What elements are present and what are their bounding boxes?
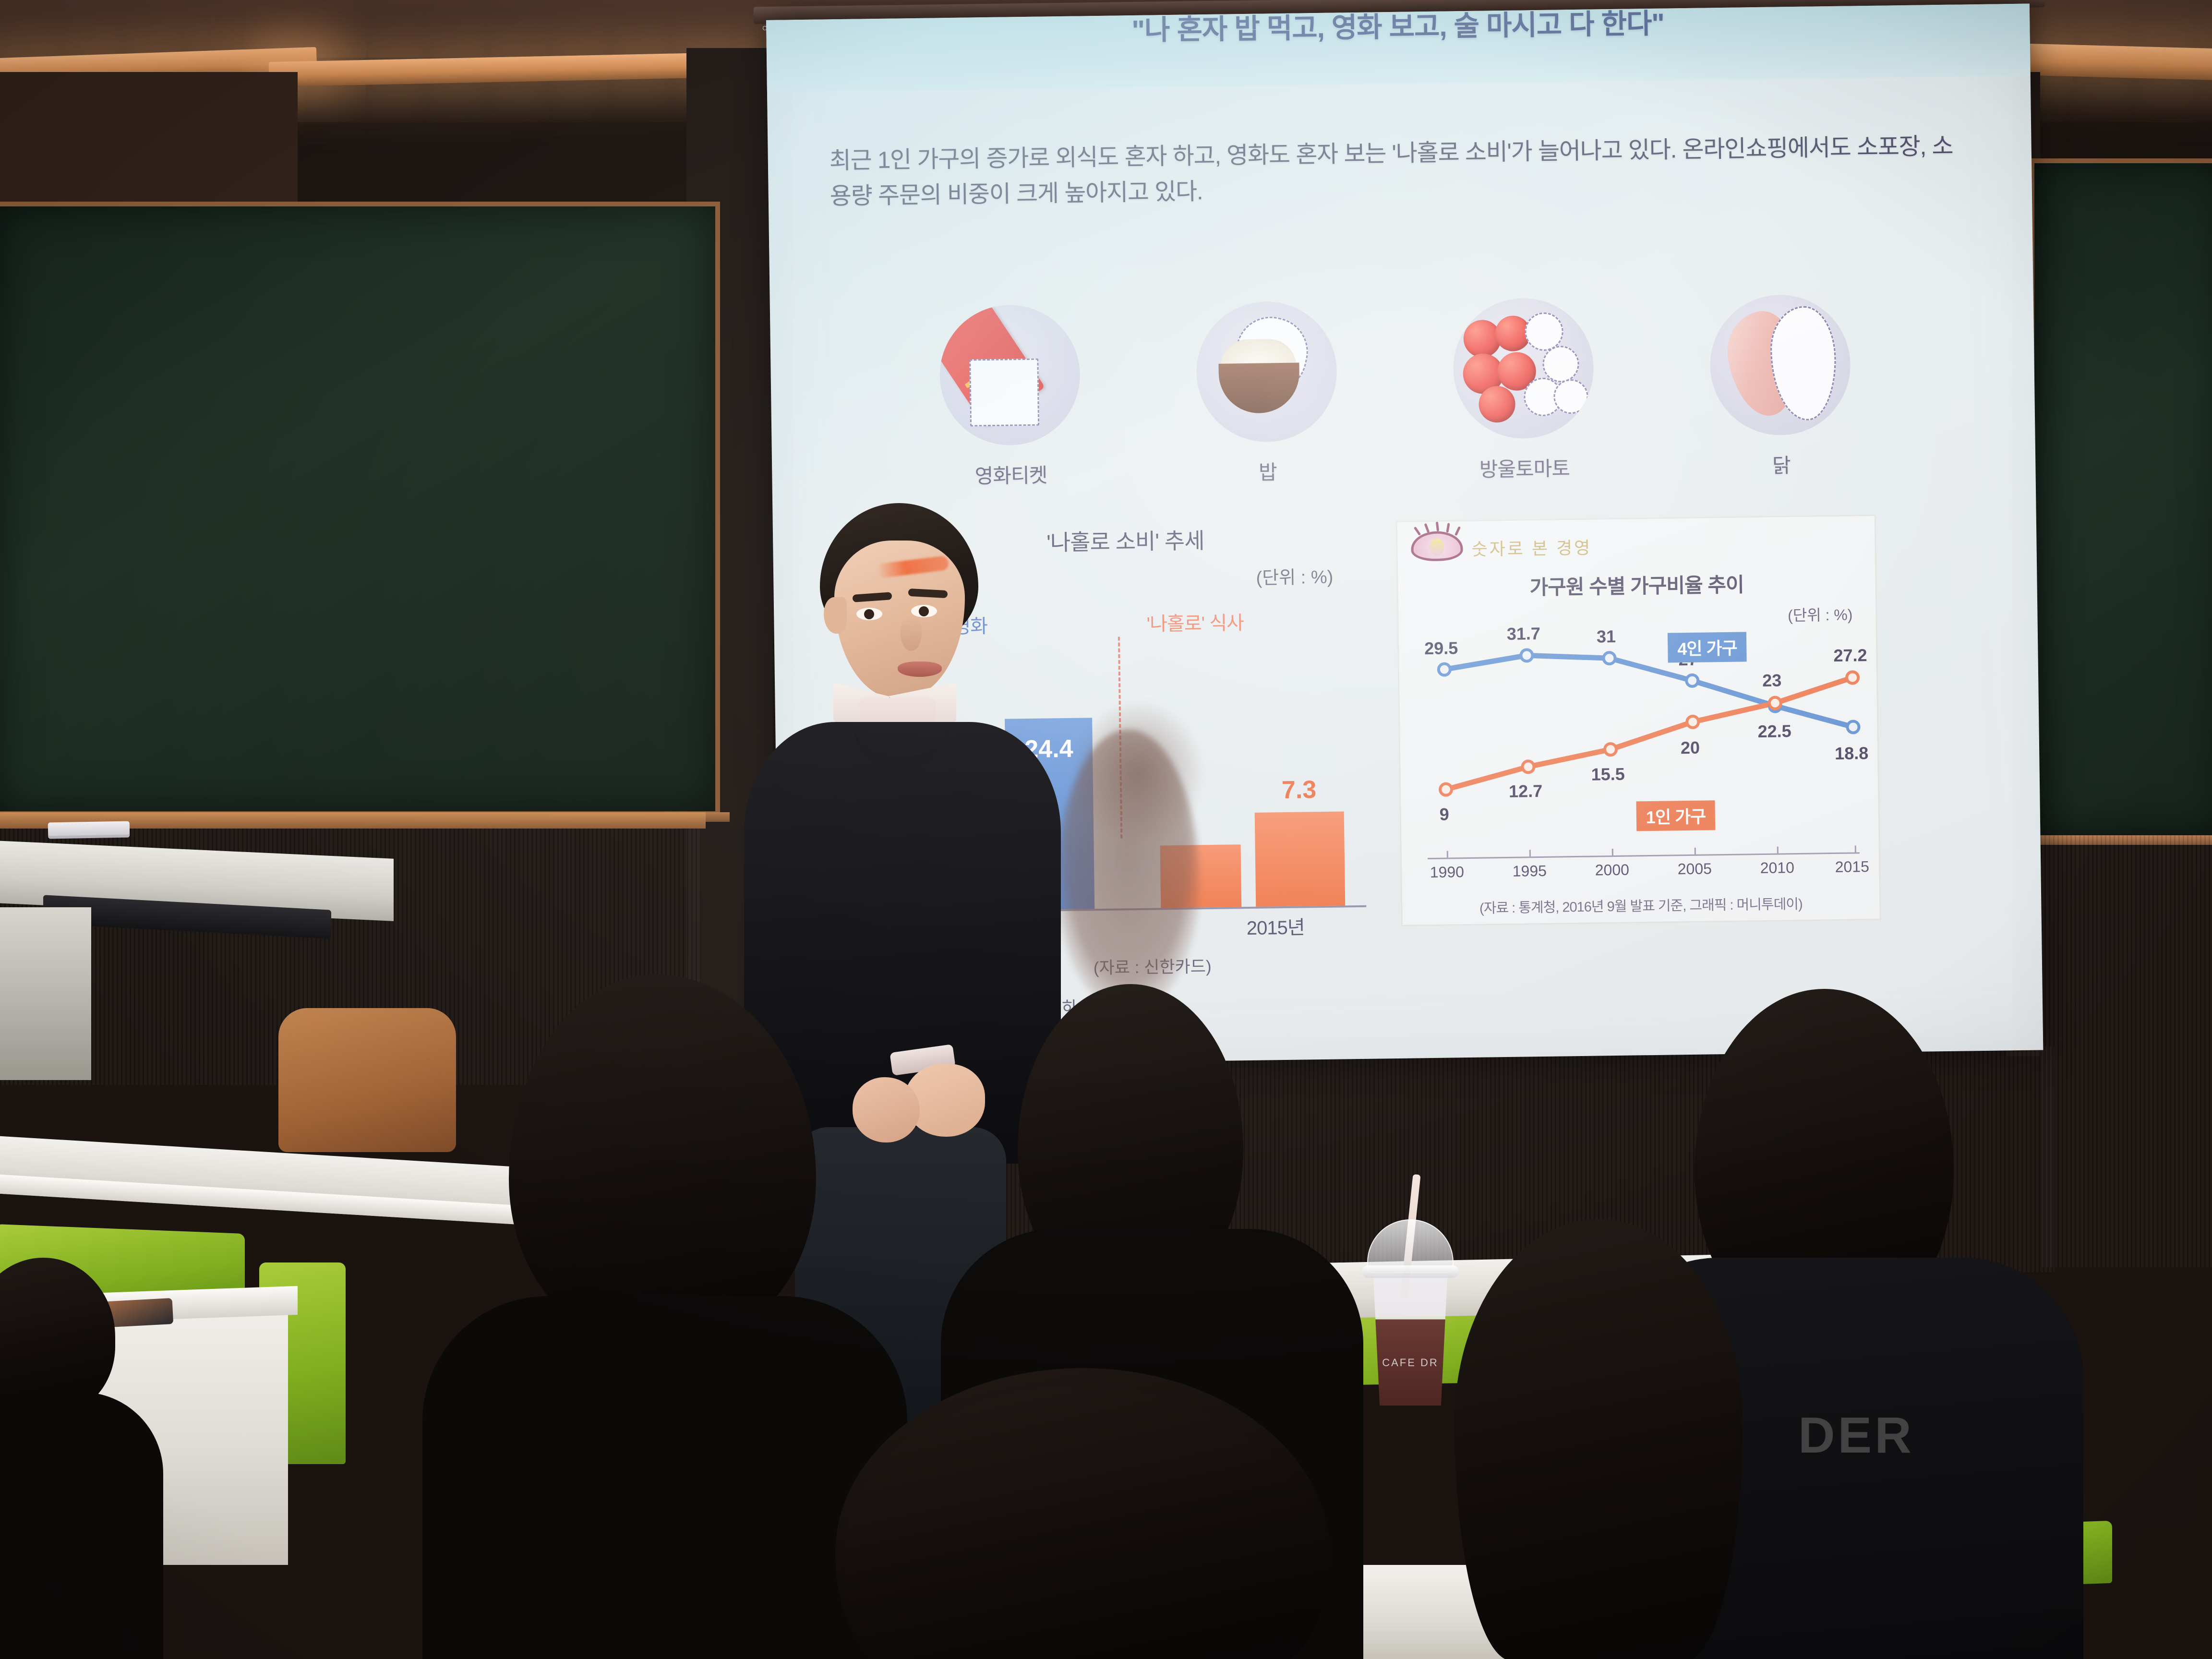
point-label-1person-1995: 12.7 — [1509, 781, 1543, 802]
series-line-1person — [1444, 677, 1854, 789]
eye-logo-icon — [1411, 531, 1463, 561]
wall-upper-left — [0, 72, 298, 216]
bar-chart-xlabel-2015: 2015년 — [1246, 912, 1305, 940]
presenter-hand-left — [853, 1077, 920, 1142]
presenter-nose — [901, 616, 922, 651]
rice-bowl-icon — [1195, 301, 1337, 443]
slide-body-text: 최근 1인 가구의 증가로 외식도 혼자 하고, 영화도 혼자 보는 '나홀로 … — [829, 128, 1972, 215]
line-chart-source: (자료 : 통계청, 2016년 9월 발표 기준, 그래픽 : 머니투데이) — [1402, 892, 1879, 918]
chalkboard-left — [0, 202, 720, 816]
line-chart-household-ratio: 숫자로 본 경영 가구원 수별 가구비율 추이 (단위 : %) — [1396, 515, 1881, 926]
xtick-1990: 1990 — [1430, 863, 1465, 881]
point-label-1person-2015: 27.2 — [1833, 645, 1867, 666]
presenter-eye-right — [911, 605, 937, 617]
bar-meal-2015: 7.3 — [1255, 811, 1346, 906]
xtick-2010: 2010 — [1760, 859, 1794, 877]
point-label-4person-2010: 22.5 — [1757, 721, 1791, 742]
slide-icon-row: 영화티켓 밥 — [880, 293, 1910, 491]
chalkboard-right — [2030, 158, 2212, 840]
point-label-1person-1990: 9 — [1439, 805, 1449, 825]
wood-wall-right — [2040, 835, 2212, 1267]
xtick-2005: 2005 — [1677, 860, 1712, 878]
point-label-4person-1995: 31.7 — [1507, 624, 1541, 644]
movie-ticket-icon — [938, 304, 1081, 446]
cup-lid-ring — [1362, 1265, 1458, 1278]
lecture-hall-photo: CANON "나 혼자 밥 먹고, 영화 보고, 술 마시고 다 한다" 최근 … — [0, 0, 2212, 1659]
cup-brand-text: CAFE DR — [1362, 1357, 1458, 1369]
icon-cell-movie-ticket: 영화티켓 — [922, 304, 1097, 490]
point-label-1person-2000: 15.5 — [1591, 764, 1625, 785]
line-chart-logo-text: 숫자로 본 경영 — [1471, 534, 1592, 561]
student-head-far-right — [1455, 1219, 1743, 1659]
icon-label-chicken: 닭 — [1695, 448, 1868, 480]
cherry-tomato-icon — [1452, 298, 1594, 440]
point-label-4person-1990: 29.5 — [1424, 638, 1458, 659]
icon-label-movie-ticket: 영화티켓 — [925, 458, 1098, 490]
chicken-icon — [1709, 294, 1851, 436]
bar-chart-unit: (단위 : %) — [1256, 562, 1333, 589]
icon-cell-chicken: 닭 — [1693, 294, 1868, 480]
xtick-2000: 2000 — [1595, 861, 1629, 879]
series-line-4person — [1444, 651, 1853, 732]
icon-cell-cherry-tomato: 방울토마토 — [1436, 297, 1611, 483]
legend-badge-4person: 4인 가구 — [1668, 632, 1747, 662]
point-label-4person-2000: 31 — [1597, 626, 1616, 647]
icon-cell-rice: 밥 — [1179, 301, 1354, 487]
icon-label-cherry-tomato: 방울토마토 — [1438, 452, 1611, 483]
line-chart-xaxis — [1428, 852, 1860, 859]
iced-coffee-cup: CAFE DR — [1362, 1219, 1458, 1411]
presenter-eye-left — [856, 608, 882, 620]
xtick-1995: 1995 — [1513, 862, 1547, 880]
xtick-2015: 2015 — [1835, 858, 1869, 876]
point-label-1person-2010: 23 — [1762, 670, 1782, 691]
point-label-4person-2015: 18.8 — [1835, 743, 1869, 764]
bar-value-meal-2015: 7.3 — [1254, 775, 1344, 805]
student-body-far-left — [0, 1392, 163, 1659]
icon-label-rice: 밥 — [1181, 455, 1354, 487]
bar-chart-legend-meal: '나홀로' 식사 — [1146, 607, 1244, 637]
cup-body — [1370, 1275, 1451, 1406]
line-chart-unit: (단위 : %) — [1788, 602, 1853, 625]
student-body-center-left — [422, 1296, 907, 1659]
line-chart-title: 가구원 수별 가구비율 추이 — [1398, 567, 1875, 602]
legend-badge-1person: 1인 가구 — [1636, 800, 1715, 831]
cove-light-right — [2020, 44, 2212, 81]
hoodie-logo-text: DER — [1798, 1407, 1914, 1465]
wooden-chair — [278, 1008, 456, 1152]
presenter-ear — [824, 597, 847, 634]
point-label-1person-2005: 20 — [1681, 738, 1700, 758]
chalk-eraser — [48, 821, 130, 839]
lectern-base — [0, 907, 91, 1080]
presenter-mouth — [898, 661, 942, 677]
